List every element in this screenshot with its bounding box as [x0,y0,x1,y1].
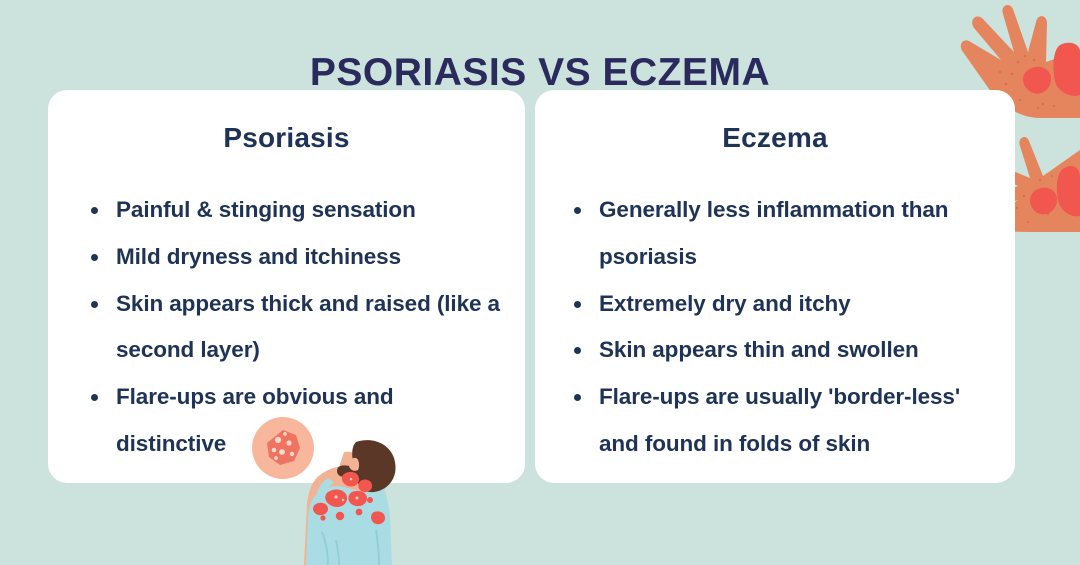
list-item: Extremely dry and itchy [571,281,1001,328]
bullet-dot-icon [574,207,581,214]
page-title: PSORIASIS VS ECZEMA [0,52,1080,95]
list-item-text: Skin appears thick and raised (like a se… [116,291,500,363]
eczema-card: Eczema Generally less inflammation than … [535,90,1015,483]
list-item-text: Generally less inflammation than psorias… [599,197,948,269]
list-item: Skin appears thin and swollen [571,327,1001,374]
bullet-dot-icon [574,394,581,401]
bullet-dot-icon [91,207,98,214]
bullet-dot-icon [574,301,581,308]
list-item: Flare-ups are usually 'border-less' and … [571,374,1001,468]
list-item-text: Flare-ups are obvious and distinctive [116,384,394,456]
list-item: Painful & stinging sensation [88,187,505,234]
infographic-canvas: PSORIASIS VS ECZEMA Psoriasis Painful & … [0,0,1080,565]
bullet-dot-icon [91,254,98,261]
eczema-card-heading: Eczema [535,90,1015,154]
eczema-bullet-list: Generally less inflammation than psorias… [535,154,1015,468]
psoriasis-card: Psoriasis Painful & stinging sensation M… [48,90,525,483]
list-item-text: Painful & stinging sensation [116,197,416,222]
bullet-dot-icon [91,301,98,308]
bullet-dot-icon [91,394,98,401]
psoriasis-card-heading: Psoriasis [48,90,525,154]
list-item: Skin appears thick and raised (like a se… [88,281,505,375]
list-item-text: Extremely dry and itchy [599,291,851,316]
bullet-dot-icon [574,347,581,354]
list-item-text: Skin appears thin and swollen [599,337,919,362]
list-item: Flare-ups are obvious and distinctive [88,374,505,468]
list-item: Generally less inflammation than psorias… [571,187,1001,281]
list-item-text: Flare-ups are usually 'border-less' and … [599,384,960,456]
list-item-text: Mild dryness and itchiness [116,244,401,269]
psoriasis-bullet-list: Painful & stinging sensation Mild drynes… [48,154,525,468]
list-item: Mild dryness and itchiness [88,234,505,281]
